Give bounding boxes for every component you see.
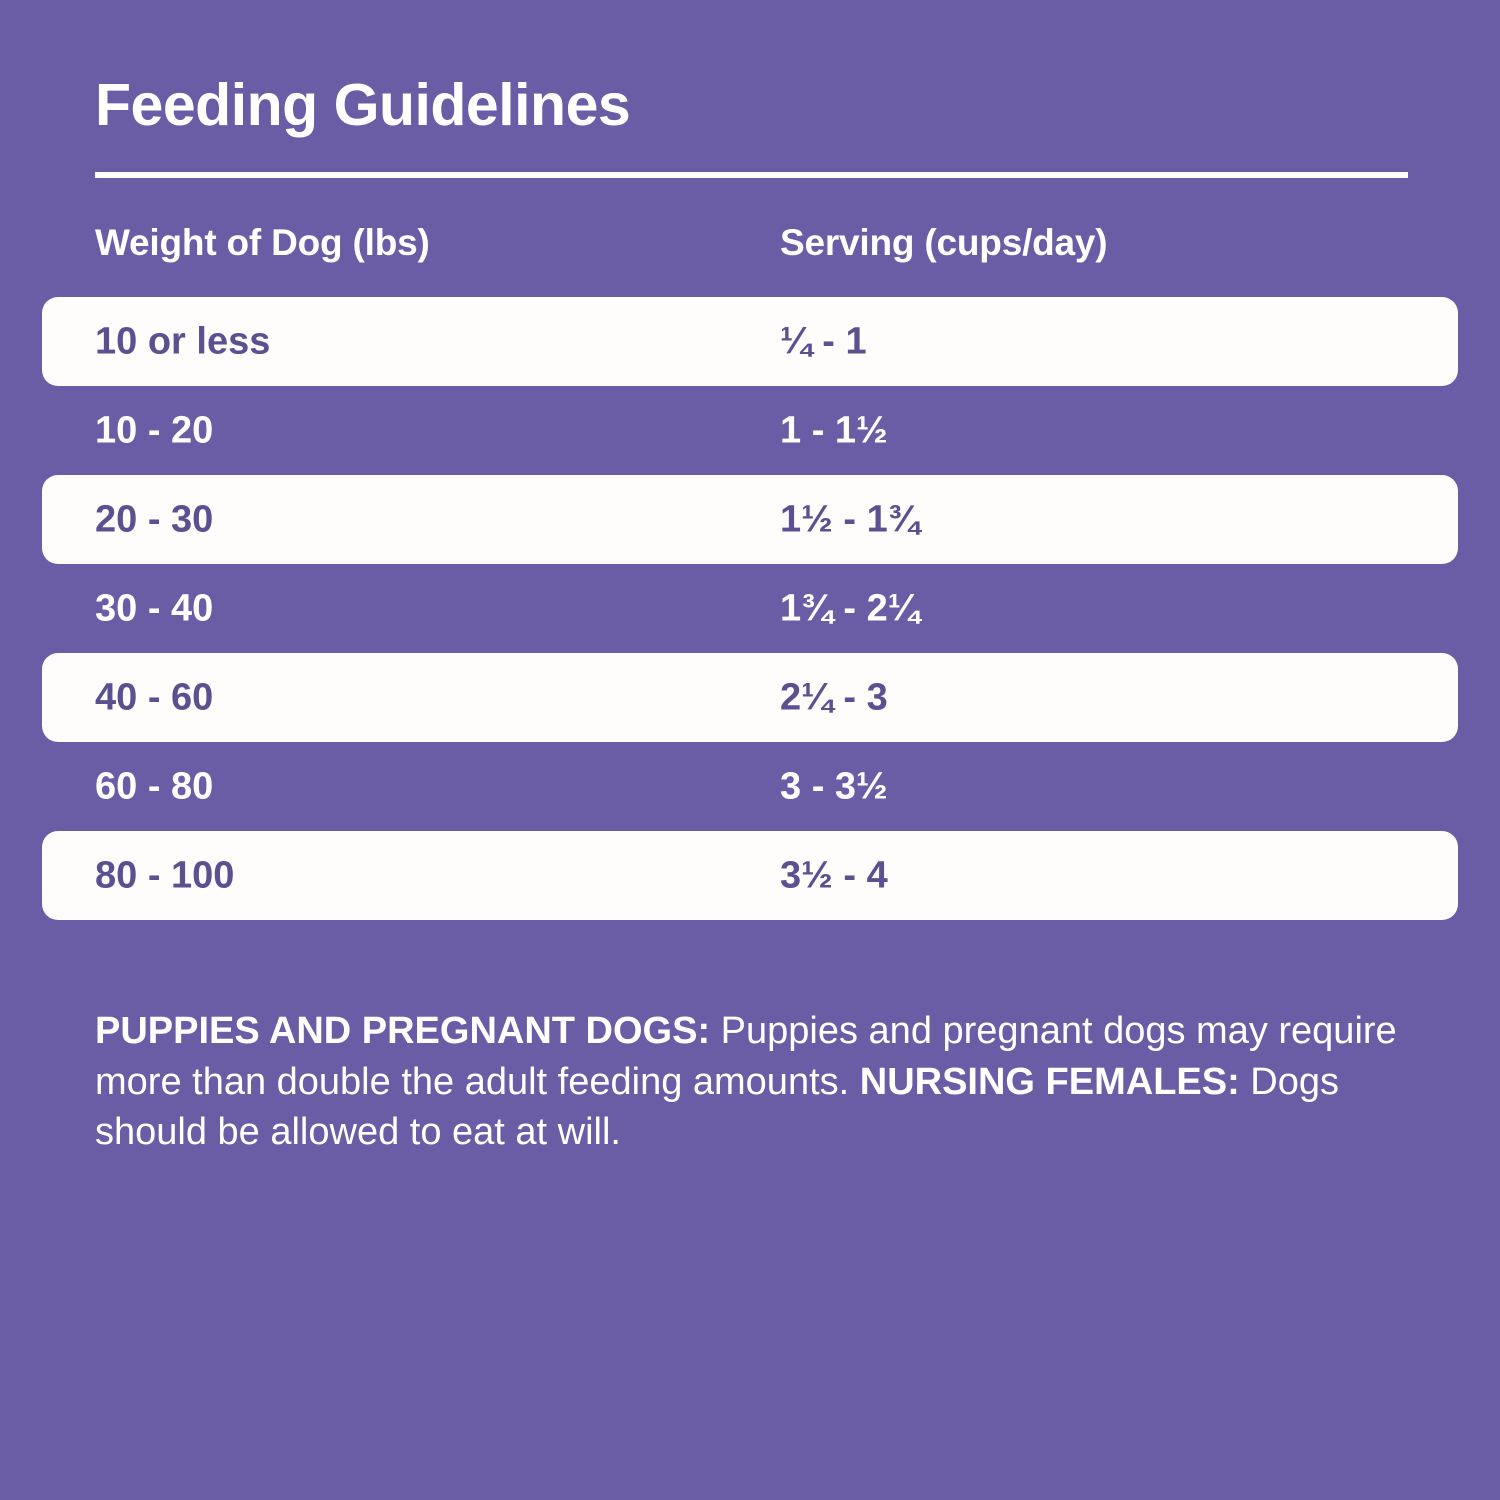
row-surface (42, 742, 1458, 831)
row-surface (42, 831, 1458, 920)
feeding-guidelines-panel: Feeding Guidelines Weight of Dog (lbs) S… (0, 0, 1500, 1500)
cell-weight: 40 - 60 (95, 676, 213, 719)
row-surface (42, 386, 1458, 475)
table-row: 10 - 20 1 - 1½ (0, 386, 1500, 475)
cell-weight: 80 - 100 (95, 854, 234, 897)
note-label-puppies: PUPPIES AND PREGNANT DOGS: (95, 1010, 710, 1052)
cell-serving: 3½ - 4 (780, 854, 888, 897)
feeding-note: PUPPIES AND PREGNANT DOGS: Puppies and p… (95, 1006, 1425, 1158)
cell-serving: ¼ - 1 (780, 320, 867, 363)
row-surface (42, 653, 1458, 742)
feeding-table: 10 or less ¼ - 1 10 - 20 1 - 1½ 20 - 30 … (0, 297, 1500, 920)
row-surface (42, 475, 1458, 564)
table-row: 20 - 30 1½ - 1¾ (0, 475, 1500, 564)
page-title: Feeding Guidelines (95, 76, 630, 135)
title-divider (95, 172, 1408, 178)
cell-weight: 60 - 80 (95, 765, 213, 808)
table-column-headers: Weight of Dog (lbs) Serving (cups/day) (0, 222, 1500, 280)
cell-serving: 2¼ - 3 (780, 676, 888, 719)
cell-weight: 20 - 30 (95, 498, 213, 541)
cell-serving: 1¾ - 2¼ (780, 587, 919, 630)
cell-weight: 30 - 40 (95, 587, 213, 630)
cell-weight: 10 or less (95, 320, 270, 363)
column-header-serving: Serving (cups/day) (780, 222, 1107, 264)
row-surface (42, 564, 1458, 653)
cell-serving: 1½ - 1¾ (780, 498, 919, 541)
table-row: 80 - 100 3½ - 4 (0, 831, 1500, 920)
cell-weight: 10 - 20 (95, 409, 213, 452)
column-header-weight: Weight of Dog (lbs) (95, 222, 430, 264)
table-row: 10 or less ¼ - 1 (0, 297, 1500, 386)
note-label-nursing: NURSING FEMALES: (860, 1061, 1240, 1103)
table-row: 40 - 60 2¼ - 3 (0, 653, 1500, 742)
table-row: 30 - 40 1¾ - 2¼ (0, 564, 1500, 653)
cell-serving: 1 - 1½ (780, 409, 888, 452)
table-row: 60 - 80 3 - 3½ (0, 742, 1500, 831)
cell-serving: 3 - 3½ (780, 765, 888, 808)
